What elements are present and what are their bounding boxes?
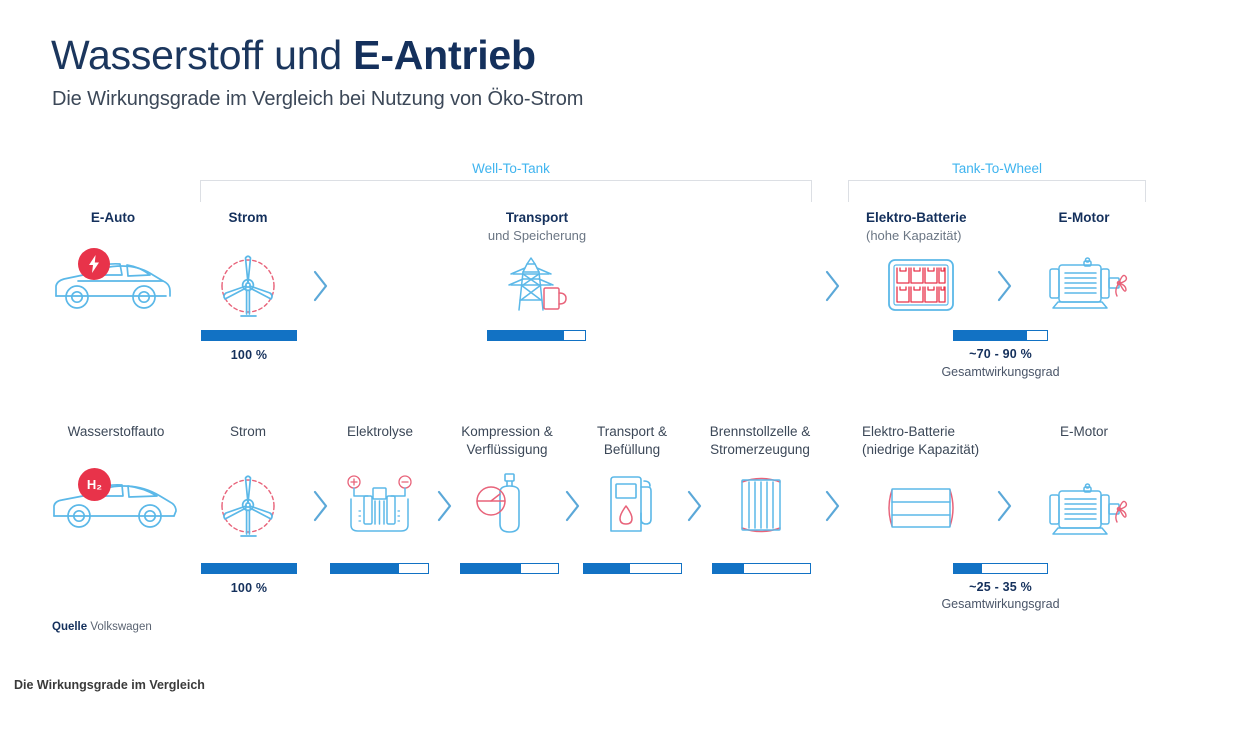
row-2-step-2-icon: [345, 473, 415, 537]
row-2-step-5-title-line2: Stromerzeugung: [690, 441, 830, 459]
row-2-summary-bar: [953, 563, 1048, 574]
row-2-step-6-header: Elektro-Batterie (niedrige Kapazität): [848, 423, 1008, 459]
row-1-chevron-2: [822, 268, 844, 309]
row-1-step-2-subtitle: und Speicherung: [440, 227, 634, 245]
row-2-chevron-2: [434, 488, 456, 529]
row-1-step-3-title: Elektro-Batterie: [848, 209, 990, 227]
electric-motor-icon: [1046, 256, 1130, 314]
row-1-step-4-header: E-Motor: [1020, 209, 1148, 227]
row-2-step-6-icon: [884, 482, 958, 534]
row-1-step-1-bar-fill: [202, 331, 296, 340]
row-2-step-7-icon: [1046, 482, 1130, 540]
phase-label-well-to-tank: Well-To-Tank: [200, 161, 822, 176]
wind-turbine-icon: [213, 470, 283, 542]
row-2-step-4-icon: [603, 473, 663, 537]
row-1-vehicle-icon: [48, 248, 178, 320]
wind-turbine-icon: [213, 250, 283, 322]
row-1-vehicle-label-wrap: E-Auto: [48, 209, 178, 227]
row-1-summary-sublabel: Gesamtwirkungsgrad: [933, 365, 1068, 379]
row-2-step-3-header: Kompression & Verflüssigung: [444, 423, 570, 459]
row-2-step-1-header: Strom: [184, 423, 312, 441]
row-1-step-3-header: Elektro-Batterie (hohe Kapazität): [848, 209, 990, 245]
row-2-step-5-header: Brennstollzelle & Stromerzeugung: [690, 423, 830, 459]
phase-bracket-tank-to-wheel: [848, 180, 1146, 202]
row-1-step-1-header: Strom: [184, 209, 312, 227]
row-2-step-1-title: Strom: [184, 423, 312, 441]
row-2-vehicle-label: Wasserstoffauto: [48, 423, 184, 441]
row-1-chevron-1: [310, 268, 332, 309]
battery-low-capacity-icon: [884, 482, 958, 534]
row-1-step-1-icon: [213, 250, 283, 322]
source-label: Quelle: [52, 621, 87, 633]
row-1-vehicle-badge-icon: [78, 248, 110, 280]
row-1-step-2-title: Transport: [440, 209, 634, 227]
row-2-step-3-bar: [460, 563, 559, 574]
row-2-chevron-5: [822, 488, 844, 529]
chevron-right-icon: [310, 488, 332, 524]
chevron-right-icon: [310, 268, 332, 304]
row-1-step-2-header: Transport und Speicherung: [440, 209, 634, 245]
chevron-right-icon: [994, 268, 1016, 304]
row-2-vehicle-badge-icon: H₂: [78, 468, 111, 501]
row-2-step-1-icon: [213, 470, 283, 542]
row-2-step-6-title: Elektro-Batterie: [848, 423, 1008, 441]
row-1-step-1-bar: [201, 330, 297, 341]
row-2-step-5-bar: [712, 563, 811, 574]
row-2-chevron-4: [684, 488, 706, 529]
row-2-step-4-title-line2: Befüllung: [572, 441, 692, 459]
figure-caption: Die Wirkungsgrade im Vergleich: [14, 678, 205, 692]
source-value: Volkswagen: [90, 621, 151, 633]
row-2-step-2-title: Elektrolyse: [316, 423, 444, 441]
row-1-summary-label: ~70 - 90 %: [933, 347, 1068, 361]
row-2-step-4-title: Transport &: [572, 423, 692, 441]
infographic-root: Wasserstoff und E-Antrieb Die Wirkungsgr…: [0, 0, 1241, 734]
row-1-chevron-3: [994, 268, 1016, 309]
row-2-vehicle-icon: H₂: [48, 470, 182, 536]
row-1-step-1-title: Strom: [184, 209, 312, 227]
row-1-step-3-icon: [886, 256, 956, 314]
chevron-right-icon: [562, 488, 584, 524]
power-pylon-icon: [503, 252, 571, 318]
electrolysis-icon: [345, 473, 415, 537]
chevron-right-icon: [822, 488, 844, 524]
row-2-step-5-title: Brennstollzelle &: [690, 423, 830, 441]
electric-motor-icon: [1046, 482, 1130, 540]
row-1-step-2-icon: [503, 252, 571, 318]
row-2-summary-sublabel: Gesamtwirkungsgrad: [933, 597, 1068, 611]
row-1-step-4-title: E-Motor: [1020, 209, 1148, 227]
phase-bracket-well-to-tank: [200, 180, 812, 202]
row-2-step-7-header: E-Motor: [1020, 423, 1148, 441]
row-2-step-6-subtitle: (niedrige Kapazität): [848, 441, 1008, 459]
row-1-step-4-icon: [1046, 256, 1130, 314]
row-2-step-3-bar-fill: [461, 564, 521, 573]
row-2-step-7-title: E-Motor: [1020, 423, 1148, 441]
row-2-step-4-bar-fill: [584, 564, 630, 573]
page-subtitle: Die Wirkungsgrade im Vergleich bei Nutzu…: [52, 88, 583, 111]
row-2-step-3-title-line2: Verflüssigung: [444, 441, 570, 459]
row-2-chevron-3: [562, 488, 584, 529]
row-2-step-1-bar: [201, 563, 297, 574]
row-2-chevron-1: [310, 488, 332, 529]
chevron-right-icon: [994, 488, 1016, 524]
row-1-step-2-bar: [487, 330, 586, 341]
row-2-step-1-bar-fill: [202, 564, 296, 573]
sedan-car-icon: [48, 470, 182, 536]
row-2-step-1-bar-label: 100 %: [201, 581, 297, 595]
row-2-summary-bar-fill: [954, 564, 982, 573]
row-2-step-3-icon: [473, 470, 541, 538]
page-title: Wasserstoff und E-Antrieb: [51, 32, 536, 79]
gas-tank-icon: [473, 470, 541, 538]
row-2-step-2-bar-fill: [331, 564, 399, 573]
hatchback-car-icon: [48, 248, 178, 320]
phase-label-tank-to-wheel: Tank-To-Wheel: [848, 161, 1146, 176]
lightning-bolt-icon: [87, 255, 101, 273]
source-line: Quelle Volkswagen: [52, 621, 152, 633]
row-2-chevron-6: [994, 488, 1016, 529]
row-2-step-4-bar: [583, 563, 682, 574]
row-2-summary-label: ~25 - 35 %: [933, 580, 1068, 594]
row-1-step-3-subtitle: (hohe Kapazität): [848, 227, 990, 245]
row-1-summary-bar-fill: [954, 331, 1027, 340]
row-2-step-2-bar: [330, 563, 429, 574]
row-2-step-3-title: Kompression &: [444, 423, 570, 441]
row-1-vehicle-label: E-Auto: [48, 209, 178, 227]
page-title-regular: Wasserstoff und: [51, 32, 353, 78]
row-1-step-2-bar-fill: [488, 331, 564, 340]
chevron-right-icon: [684, 488, 706, 524]
row-2-step-5-bar-fill: [713, 564, 744, 573]
row-2-vehicle-label-wrap: Wasserstoffauto: [48, 423, 184, 441]
row-1-summary-bar: [953, 330, 1048, 341]
fuel-cell-icon: [733, 472, 789, 538]
row-2-step-2-header: Elektrolyse: [316, 423, 444, 441]
fuel-pump-icon: [603, 473, 663, 537]
row-2-step-5-icon: [733, 472, 789, 538]
battery-high-capacity-icon: [886, 256, 956, 314]
page-title-bold: E-Antrieb: [353, 32, 536, 78]
row-2-step-4-header: Transport & Befüllung: [572, 423, 692, 459]
row-1-step-1-bar-label: 100 %: [201, 348, 297, 362]
chevron-right-icon: [822, 268, 844, 304]
chevron-right-icon: [434, 488, 456, 524]
